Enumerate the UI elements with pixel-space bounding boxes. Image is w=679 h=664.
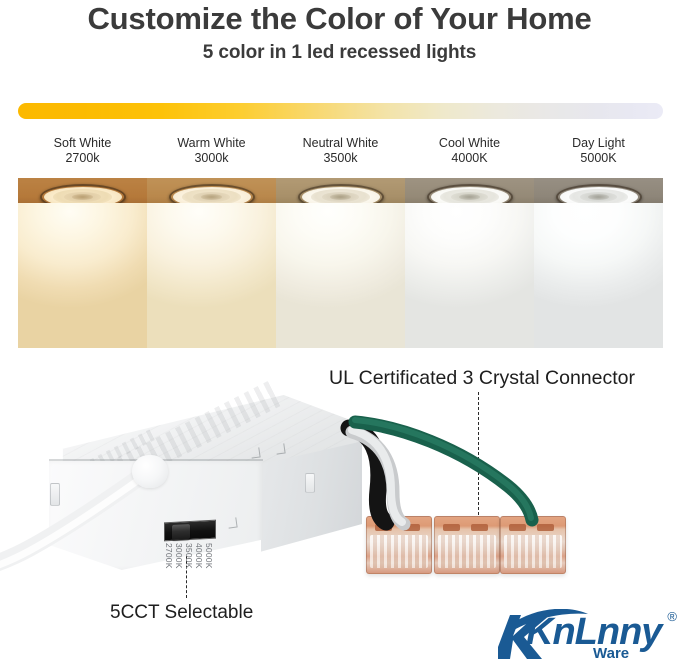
light-wash <box>18 203 147 348</box>
wall-surface <box>18 209 147 348</box>
switch-label-2700k: 2700K <box>164 543 174 569</box>
switch-label-4000k: 4000K <box>194 543 204 569</box>
light-preview-panel-4000k <box>405 178 534 348</box>
cct-label-cool-white: Cool White 4000K <box>405 136 534 166</box>
cct-name: Day Light <box>534 136 663 151</box>
light-wash <box>147 203 276 348</box>
light-wash <box>276 203 405 348</box>
product-infographic: Customize the Color of Your Home 5 color… <box>0 0 679 664</box>
cct-kelvin: 3000k <box>147 151 276 166</box>
cct-name: Cool White <box>405 136 534 151</box>
page-subtitle: 5 color in 1 led recessed lights <box>0 42 679 64</box>
wall-surface <box>405 209 534 348</box>
cable-grommet <box>132 455 168 488</box>
light-preview-panel-3500k <box>276 178 405 348</box>
light-preview-panel-5000k <box>534 178 663 348</box>
light-wash <box>534 203 663 348</box>
wall-surface <box>276 209 405 348</box>
cct-kelvin: 2700k <box>18 151 147 166</box>
switch-label-5000k: 5000K <box>204 543 214 569</box>
cct-label-neutral-white: Neutral White 3500k <box>276 136 405 166</box>
cct-label-day-light: Day Light 5000K <box>534 136 663 166</box>
cct-label-row: Soft White 2700k Warm White 3000k Neutra… <box>18 136 663 166</box>
switch-knob[interactable] <box>172 524 190 540</box>
cct-kelvin: 5000K <box>534 151 663 166</box>
color-comparison-photo-strip <box>18 178 663 348</box>
light-preview-panel-3000k <box>147 178 276 348</box>
cct-kelvin: 4000K <box>405 151 534 166</box>
light-wash <box>405 203 534 348</box>
page-title: Customize the Color of Your Home <box>0 1 679 37</box>
color-temperature-gradient-bar <box>18 103 663 119</box>
cct-label-warm-white: Warm White 3000k <box>147 136 276 166</box>
cct-label-soft-white: Soft White 2700k <box>18 136 147 166</box>
light-preview-panel-2700k <box>18 178 147 348</box>
cct-name: Neutral White <box>276 136 405 151</box>
switch-track[interactable] <box>164 520 216 542</box>
switch-label-3000k: 3000K <box>174 543 184 569</box>
switch-label-3500k: 3500K <box>184 543 194 569</box>
cct-name: Warm White <box>147 136 276 151</box>
cct-name: Soft White <box>18 136 147 151</box>
switch-label-group: 5000K 4000K 3500K 3000K 2700K <box>160 543 222 577</box>
wall-surface <box>147 209 276 348</box>
wall-surface <box>534 209 663 348</box>
cct-kelvin: 3500k <box>276 151 405 166</box>
